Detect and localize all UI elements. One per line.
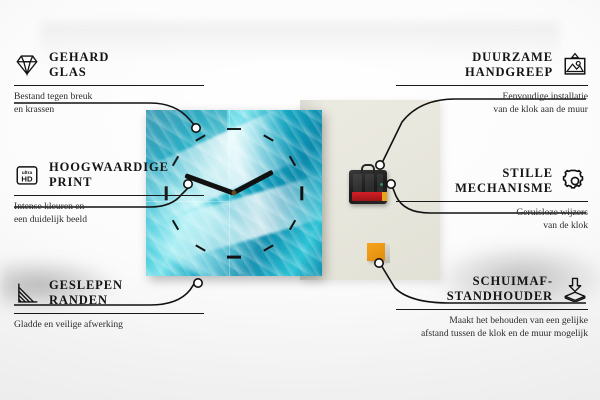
feature-sub-line2: van de klok aan de muur (396, 104, 588, 117)
feature-divider (14, 85, 204, 86)
mechanism-indicator (380, 183, 383, 186)
mechanism-hanger-icon (361, 164, 375, 173)
feature-divider (14, 195, 204, 196)
diamond-icon (14, 52, 40, 78)
feature-hoogwaardige-print: ultra HD HOOGWAARDIGE PRINT Intense kleu… (14, 160, 204, 226)
feature-sub-line1: Maakt het behouden van een gelijke (396, 315, 588, 328)
feature-stille-mechanisme: STILLE MECHANISME Geruisloze wijzers van… (396, 166, 588, 232)
feature-title-line1: GEHARD (49, 50, 109, 65)
beveled-edge-icon (14, 280, 40, 306)
clock-tick (301, 186, 304, 200)
feature-sub-line1: Intense kleuren en (14, 201, 204, 214)
feature-title-line2: STANDHOUDER (447, 289, 553, 304)
foam-spacer-side (385, 245, 390, 263)
clock-mechanism (349, 170, 387, 204)
infographic-canvas: GEHARD GLAS Bestand tegen breuk en krass… (0, 0, 600, 400)
down-arrow-stack-icon (562, 276, 588, 302)
feature-title-line1: GESLEPEN (49, 278, 123, 293)
feature-title-line1: STILLE (455, 166, 553, 181)
feature-divider (14, 313, 204, 314)
feature-sub-line2: een duidelijk beeld (14, 214, 204, 227)
mechanism-body-detail (353, 174, 383, 192)
ultra-hd-icon: ultra HD (14, 162, 40, 188)
feature-title-line2: HANDGREEP (465, 65, 553, 80)
feature-sub-line1: Eenvoudige installatie (396, 91, 588, 104)
feature-title-line1: DUURZAME (465, 50, 553, 65)
feature-sub-line1: Bestand tegen breuk (14, 91, 204, 104)
feature-duurzame-handgreep: DUURZAME HANDGREEP Eenvoudige installati… (396, 50, 588, 116)
feature-gehard-glas: GEHARD GLAS Bestand tegen breuk en krass… (14, 50, 204, 116)
battery (352, 192, 384, 201)
clock-center-cap (232, 191, 237, 196)
svg-text:HD: HD (21, 174, 33, 183)
feature-divider (396, 201, 588, 202)
feature-title-line1: HOOGWAARDIGE (49, 160, 169, 175)
feature-geslepen-randen: GESLEPEN RANDEN Gladde en veilige afwerk… (14, 278, 204, 332)
feature-title-line2: RANDEN (49, 293, 123, 308)
feature-schuimafstandhouder: SCHUIMAF- STANDHOUDER Maakt het behouden… (396, 274, 588, 340)
battery-terminal (382, 192, 387, 201)
foam-spacer (367, 243, 385, 261)
clock-tick (227, 128, 241, 131)
feature-sub-line2: en krassen (14, 104, 204, 117)
feature-sub-line1: Gladde en veilige afwerking (14, 319, 204, 332)
gear-icon (562, 168, 588, 194)
clock-tick (227, 256, 241, 259)
feature-divider (396, 85, 588, 86)
feature-title-line2: MECHANISME (455, 181, 553, 196)
picture-frame-icon (562, 52, 588, 78)
feature-title-line2: GLAS (49, 65, 109, 80)
feature-divider (396, 309, 588, 310)
feature-title-line2: PRINT (49, 175, 169, 190)
feature-title-line1: SCHUIMAF- (447, 274, 553, 289)
feature-sub-line1: Geruisloze wijzers (396, 207, 588, 220)
feature-sub-line2: van de klok (396, 220, 588, 233)
feature-sub-line2: afstand tussen de klok en de muur mogeli… (396, 328, 588, 341)
